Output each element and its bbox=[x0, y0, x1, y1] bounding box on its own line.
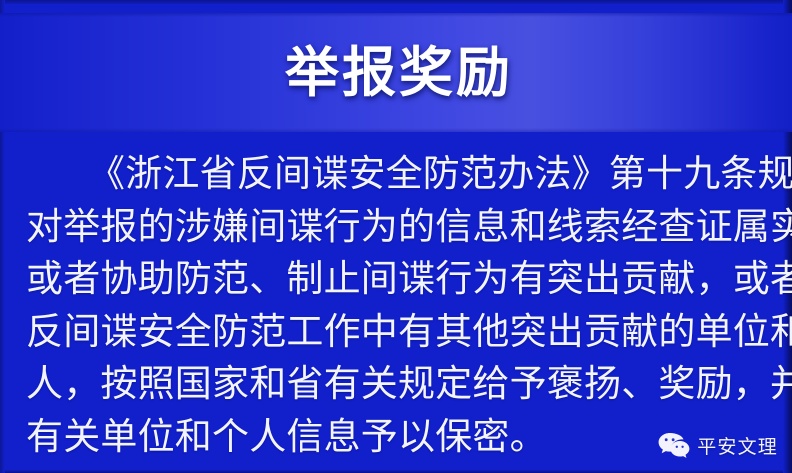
title-container: 举报奖励 bbox=[0, 22, 792, 124]
body-line: 人，按照国家和省有关规定给予褒扬、奖励，并对 bbox=[26, 358, 768, 411]
body-line: 《浙江省反间谍安全防范办法》第十九条规定： bbox=[26, 148, 768, 201]
page-title: 举报奖励 bbox=[285, 45, 513, 102]
wechat-watermark: 平安文理 bbox=[658, 432, 778, 459]
body-line: 或者协助防范、制止间谍行为有突出贡献，或者在 bbox=[26, 253, 768, 306]
wechat-account-name: 平安文理 bbox=[697, 432, 778, 459]
poster-root: 举报奖励 《浙江省反间谍安全防范办法》第十九条规定： 对举报的涉嫌间谍行为的信息… bbox=[0, 0, 792, 473]
body-line: 有关单位和个人信息予以保密。 bbox=[26, 411, 768, 464]
poster-edge-top bbox=[0, 0, 792, 4]
body-text-block: 《浙江省反间谍安全防范办法》第十九条规定： 对举报的涉嫌间谍行为的信息和线索经查… bbox=[26, 148, 768, 463]
body-line: 对举报的涉嫌间谍行为的信息和线索经查证属实， bbox=[26, 201, 768, 254]
body-line: 反间谍安全防范工作中有其他突出贡献的单位和个 bbox=[26, 306, 768, 359]
wechat-icon bbox=[658, 432, 690, 459]
